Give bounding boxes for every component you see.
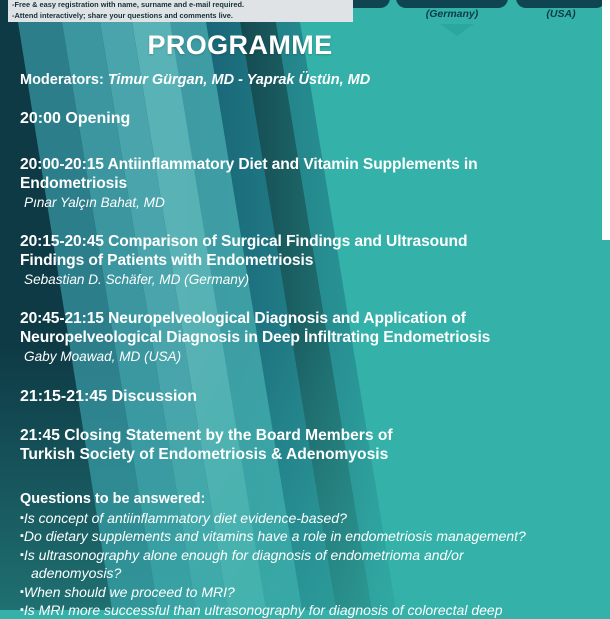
session-title-line1: 20:45-21:15 Neuropelveological Diagnosis… [20,310,466,327]
question-text: Is ultrasonography alone enough for diag… [24,547,464,563]
closing-statement: 21:45 Closing Statement by the Board Mem… [20,427,594,464]
session-opening: 20:00 Opening [20,110,594,128]
session-speaker: Sebastian D. Schäfer, MD (Germany) [20,271,594,288]
questions-title: Questions to be answered: [20,491,594,507]
session-title-line2: Findings of Patients with Endometriosis [20,252,313,269]
question-item: ▪Is concept of antiinflammatory diet evi… [20,509,594,527]
programme-content: PROGRAMME Moderators: Timur Gürgan, MD -… [0,0,610,619]
session-item: 20:45-21:15 Neuropelveological Diagnosis… [20,310,594,365]
moderators-label: Moderators: [20,72,104,88]
session-title-line2: Neuropelveological Diagnosis in Deep İnf… [20,329,490,346]
question-text: Is MRI more successful than ultrasonogra… [24,602,503,618]
question-item: ▪When should we proceed to MRI? [20,583,594,601]
session-discussion: 21:15-21:45 Discussion [20,388,594,406]
session-title: 20:45-21:15 Neuropelveological Diagnosis… [20,310,594,347]
question-text: Is concept of antiinflammatory diet evid… [24,510,347,526]
session-title: 20:15-20:45 Comparison of Surgical Findi… [20,233,594,270]
question-text: Do dietary supplements and vitamins have… [24,528,526,544]
session-speaker: Pınar Yalçın Bahat, MD [20,194,594,211]
questions-block: Questions to be answered: ▪Is concept of… [20,491,594,619]
question-text: When should we proceed to MRI? [24,584,235,600]
session-item: 20:00-20:15 Antiinflammatory Diet and Vi… [20,156,594,211]
question-item: ▪Do dietary supplements and vitamins hav… [20,527,594,545]
session-speaker: Gaby Moawad, MD (USA) [20,348,594,365]
session-title-line1: 20:00-20:15 Antiinflammatory Diet and Vi… [20,156,478,173]
session-item: 20:15-20:45 Comparison of Surgical Findi… [20,233,594,288]
session-title-line1: 20:15-20:45 Comparison of Surgical Findi… [20,233,467,250]
moderators-names: Timur Gürgan, MD - Yaprak Üstün, MD [104,72,370,88]
session-title-line2: Endometriosis [20,175,127,192]
question-item: ▪Is ultrasonography alone enough for dia… [20,546,594,564]
page-title: PROGRAMME [16,0,594,61]
moderators-line: Moderators: Timur Gürgan, MD - Yaprak Üs… [20,72,594,88]
question-item: ▪Is MRI more successful than ultrasonogr… [20,601,594,619]
closing-line2: Turkish Society of Endometriosis & Adeno… [20,446,388,463]
closing-line1: 21:45 Closing Statement by the Board Mem… [20,427,393,444]
session-title: 20:00-20:15 Antiinflammatory Diet and Vi… [20,156,594,193]
question-continuation: adenomyosis? [20,564,594,582]
